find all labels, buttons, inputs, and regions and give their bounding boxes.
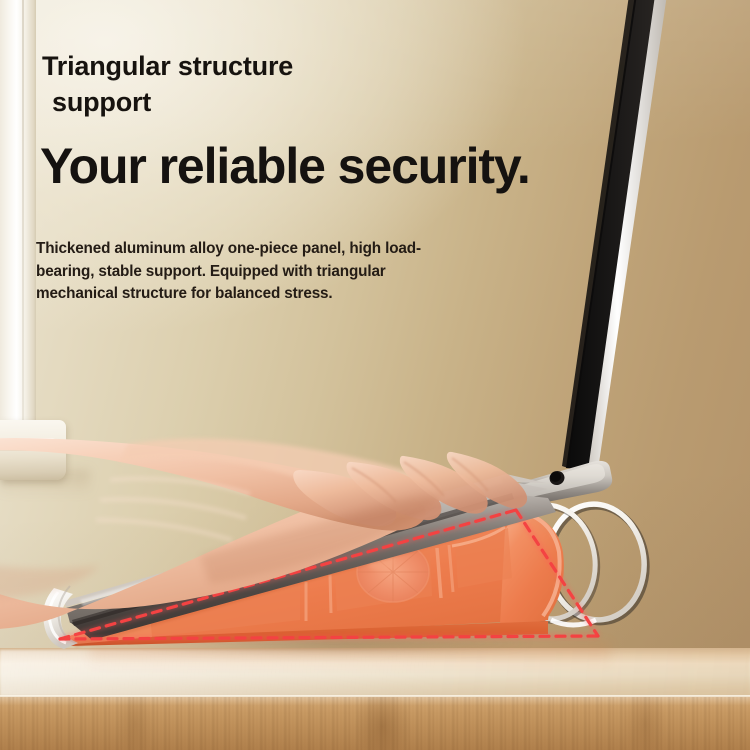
kicker-text: Triangular structure support bbox=[42, 48, 502, 120]
headline: Your reliable security. bbox=[40, 140, 530, 193]
kicker-line-2: support bbox=[42, 84, 502, 120]
kicker-line-1: Triangular structure bbox=[42, 51, 293, 81]
body-copy: Thickened aluminum alloy one-piece panel… bbox=[36, 238, 466, 306]
product-banner: Triangular structure support Your reliab… bbox=[0, 0, 750, 750]
laptop-screen bbox=[562, 0, 672, 470]
